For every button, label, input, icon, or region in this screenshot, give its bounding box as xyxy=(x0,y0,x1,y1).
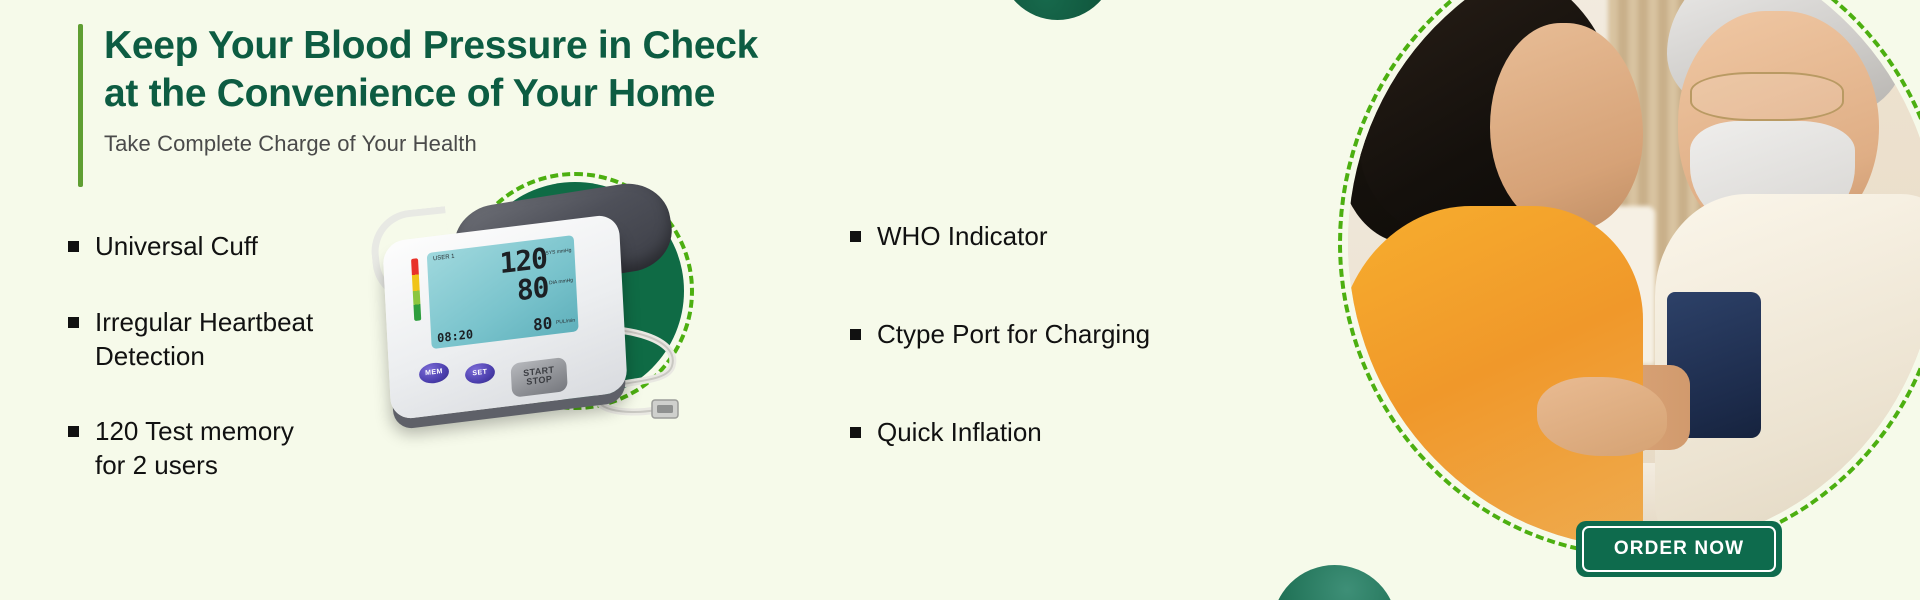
bullet-square-icon xyxy=(68,317,79,328)
list-item: 120 Test memory for 2 users xyxy=(68,415,398,483)
set-button[interactable]: SET xyxy=(465,362,496,386)
lcd-sys-label: SYS mmHg xyxy=(545,247,571,256)
order-now-button[interactable]: ORDER NOW xyxy=(1576,521,1782,577)
lcd-user-label: USER 1 xyxy=(433,254,455,263)
feature-label: Ctype Port for Charging xyxy=(877,318,1150,352)
lcd-pulse-label: PUL/min xyxy=(556,317,575,325)
list-item: Universal Cuff xyxy=(68,230,398,264)
lcd-diastolic-value: 80 xyxy=(516,270,549,307)
lcd-display: USER 1 120 80 08:20 80 SYS mmHg DIA mmHg… xyxy=(427,235,579,349)
list-item: Quick Inflation xyxy=(850,416,1280,450)
page-title: Keep Your Blood Pressure in Check at the… xyxy=(104,22,938,117)
feature-label: 120 Test memory for 2 users xyxy=(95,415,294,483)
page-subtitle: Take Complete Charge of Your Health xyxy=(104,131,938,157)
lifestyle-photo xyxy=(1338,0,1920,558)
feature-label: Quick Inflation xyxy=(877,416,1042,450)
decorative-circle-bottom xyxy=(1272,565,1397,600)
monitor-body: USER 1 120 80 08:20 80 SYS mmHg DIA mmHg… xyxy=(382,213,628,420)
feature-label: Universal Cuff xyxy=(95,230,258,264)
bullet-square-icon xyxy=(850,427,861,438)
bullet-square-icon xyxy=(68,426,79,437)
headline-block: Keep Your Blood Pressure in Check at the… xyxy=(78,22,938,157)
start-stop-button[interactable]: START STOP xyxy=(510,357,567,398)
feature-list-right: WHO Indicator Ctype Port for Charging Qu… xyxy=(850,220,1280,513)
lcd-time-value: 08:20 xyxy=(437,327,474,345)
bullet-square-icon xyxy=(850,329,861,340)
product-image-blood-pressure-monitor: USER 1 120 80 08:20 80 SYS mmHg DIA mmHg… xyxy=(392,182,732,444)
promo-banner: Keep Your Blood Pressure in Check at the… xyxy=(0,0,1920,600)
lcd-dia-label: DIA mmHg xyxy=(549,277,573,286)
decorative-circle-top xyxy=(1000,0,1115,20)
bullet-square-icon xyxy=(850,231,861,242)
list-item: WHO Indicator xyxy=(850,220,1280,254)
feature-label: WHO Indicator xyxy=(877,220,1048,254)
who-indicator-bar xyxy=(411,258,421,321)
bullet-square-icon xyxy=(68,241,79,252)
mem-button[interactable]: MEM xyxy=(419,361,450,385)
feature-list-left: Universal Cuff Irregular Heartbeat Detec… xyxy=(68,230,398,525)
feature-label: Irregular Heartbeat Detection xyxy=(95,306,313,374)
list-item: Ctype Port for Charging xyxy=(850,318,1280,352)
accent-bar xyxy=(78,24,83,187)
order-now-label: ORDER NOW xyxy=(1614,538,1744,560)
list-item: Irregular Heartbeat Detection xyxy=(68,306,398,374)
lcd-pulse-value: 80 xyxy=(533,313,553,334)
